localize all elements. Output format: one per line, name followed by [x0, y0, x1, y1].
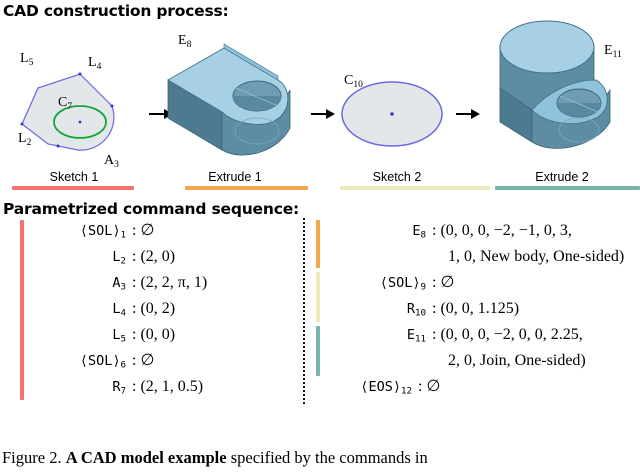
stage-label-sketch-2: Sketch 2: [322, 170, 472, 184]
vertex: [79, 73, 82, 76]
caption-suffix: specified by the commands in: [227, 448, 428, 467]
cmd-params: (2, 0): [140, 244, 175, 270]
stage-label-extrude-1: Extrude 1: [160, 170, 310, 184]
cmd-params: ∅: [426, 374, 440, 400]
extrude-2-model: E11: [484, 18, 640, 168]
label-L5: L5: [20, 51, 34, 68]
cmd-sep: :: [128, 222, 140, 239]
command-column-right: E8 : (0, 0, 0, −2, −1, 0, 3, 1, 0, New b…: [316, 218, 638, 400]
cmd-token: ⟨SOL⟩: [80, 223, 121, 239]
cmd-token: ⟨SOL⟩: [80, 353, 121, 369]
label-C10: C10: [344, 73, 363, 90]
cmd-index: 11: [415, 334, 426, 345]
cmd-index: 12: [401, 386, 412, 397]
cmd-params: ∅: [440, 270, 454, 296]
cmd-sep: :: [428, 326, 440, 343]
column-divider: [303, 218, 305, 404]
extrude-1-model: E8: [160, 18, 310, 168]
stage-sketch-2: C10 Sketch 2: [322, 18, 472, 188]
cmd-token: E: [407, 327, 415, 343]
circle-center: [390, 112, 393, 115]
command-row-continuation: 1, 0, New body, One-sided): [316, 244, 638, 270]
cmd-token: R: [407, 301, 415, 317]
cmd-params: (0, 0, 1.125): [440, 296, 519, 322]
cmd-sep: :: [128, 274, 140, 291]
command-row: L4 : (0, 2): [20, 296, 290, 322]
stage-bar-sketch-2: [340, 186, 490, 190]
cmd-sep: :: [428, 222, 440, 239]
command-row: ⟨SOL⟩6 : ∅: [20, 348, 290, 374]
stage-extrude-2: E11 Extrude 2: [484, 18, 640, 188]
command-row: L5 : (0, 0): [20, 322, 290, 348]
cmd-index: 6: [120, 360, 126, 371]
command-row: E8 : (0, 0, 0, −2, −1, 0, 3,: [316, 218, 638, 244]
command-column-left: ⟨SOL⟩1 : ∅ L2 : (2, 0) A3 : (2, 2, π, 1)…: [20, 218, 290, 400]
label-E11: E11: [604, 43, 622, 60]
command-sequence-heading: Parametrized command sequence:: [3, 200, 299, 218]
cmd-index: 1: [120, 230, 126, 241]
cmd-index: 10: [415, 308, 426, 319]
command-row: L2 : (2, 0): [20, 244, 290, 270]
caption-bold: A CAD model example: [66, 448, 227, 467]
cmd-sep: :: [128, 352, 140, 369]
cmd-sep: :: [128, 326, 140, 343]
cmd-index: 8: [420, 230, 426, 241]
caption-prefix: Figure 2.: [2, 448, 66, 467]
stage-bar-extrude-2: [495, 186, 640, 190]
cmd-index: 5: [120, 334, 126, 345]
cmd-index: 9: [420, 282, 426, 293]
stage-label-sketch-1: Sketch 1: [0, 170, 148, 184]
cmd-params: (0, 2): [140, 296, 175, 322]
command-row: R10 : (0, 0, 1.125): [316, 296, 638, 322]
label-A3: A3: [104, 153, 119, 168]
command-sequence-block: ⟨SOL⟩1 : ∅ L2 : (2, 0) A3 : (2, 2, π, 1)…: [0, 218, 640, 410]
command-row: ⟨EOS⟩12 : ∅: [316, 374, 638, 400]
cmd-sep: :: [128, 300, 140, 317]
cmd-params: (0, 0, 0, −2, −1, 0, 3,: [440, 218, 571, 244]
command-row: A3 : (2, 2, π, 1): [20, 270, 290, 296]
label-E8: E8: [178, 33, 192, 50]
cmd-index: 3: [120, 282, 126, 293]
sketch-2-drawing: C10: [322, 18, 472, 168]
cmd-params: (0, 0, 0, −2, 0, 0, 2.25,: [440, 322, 582, 348]
figure-root: CAD construction process: L5 L4 C7 L2 A3…: [0, 0, 640, 476]
cmd-index: 2: [120, 256, 126, 267]
cmd-params: (2, 1, 0.5): [140, 374, 203, 400]
vertex: [21, 123, 24, 126]
arrow-icon-3: [455, 106, 481, 122]
cmd-index: 7: [120, 386, 126, 397]
cmd-sep: :: [428, 274, 440, 291]
cmd-token: ⟨EOS⟩: [360, 379, 401, 395]
circle-center: [79, 121, 82, 124]
cmd-sep: :: [414, 378, 426, 395]
label-L2: L2: [18, 131, 32, 148]
sketch-1-drawing: L5 L4 C7 L2 A3: [0, 18, 148, 168]
cmd-params: 2, 0, Join, One-sided): [330, 348, 586, 374]
cmd-params: ∅: [140, 218, 154, 244]
stage-extrude-1: E8 Extrude 1: [160, 18, 310, 188]
cmd-params: (2, 2, π, 1): [140, 270, 207, 296]
stage-sketch-1: L5 L4 C7 L2 A3 Sketch 1: [0, 18, 148, 188]
cmd-token: ⟨SOL⟩: [380, 275, 421, 291]
cmd-sep: :: [428, 300, 440, 317]
label-L4: L4: [88, 55, 102, 72]
cmd-params: ∅: [140, 348, 154, 374]
stage-bar-extrude-1: [185, 186, 308, 190]
vertex: [111, 105, 114, 108]
command-row-continuation: 2, 0, Join, One-sided): [316, 348, 638, 374]
stage-label-extrude-2: Extrude 2: [484, 170, 640, 184]
command-row: E11 : (0, 0, 0, −2, 0, 0, 2.25,: [316, 322, 638, 348]
command-row: ⟨SOL⟩9 : ∅: [316, 270, 638, 296]
cmd-params: 1, 0, New body, One-sided): [330, 244, 624, 270]
cmd-sep: :: [128, 248, 140, 265]
command-row: R7 : (2, 1, 0.5): [20, 374, 290, 400]
cmd-params: (0, 0): [140, 322, 175, 348]
vertex: [57, 145, 60, 148]
figure-caption: Figure 2. A CAD model example specified …: [2, 448, 640, 468]
cmd-sep: :: [128, 378, 140, 395]
cmd-index: 4: [120, 308, 126, 319]
stage-bar-sketch-1: [12, 186, 134, 190]
command-row: ⟨SOL⟩1 : ∅: [20, 218, 290, 244]
